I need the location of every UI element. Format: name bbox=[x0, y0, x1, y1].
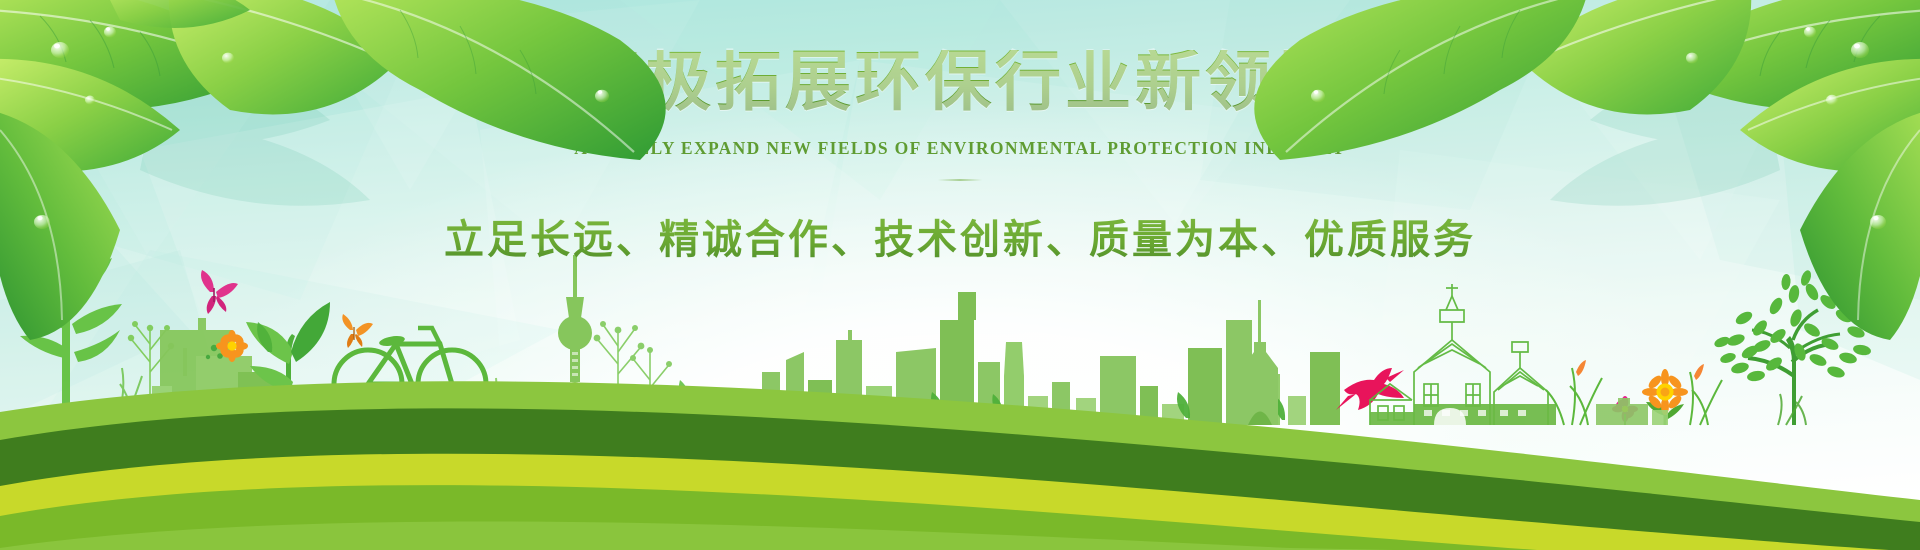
leaf-cluster-top-right bbox=[1254, 0, 1920, 340]
eco-banner: 积极拓展环保行业新领域 ACTIVELY EXPAND NEW FIELDS O… bbox=[0, 0, 1920, 550]
leaf-decoration-layer bbox=[0, 0, 1920, 550]
leaf-cluster-top-left bbox=[0, 0, 666, 340]
